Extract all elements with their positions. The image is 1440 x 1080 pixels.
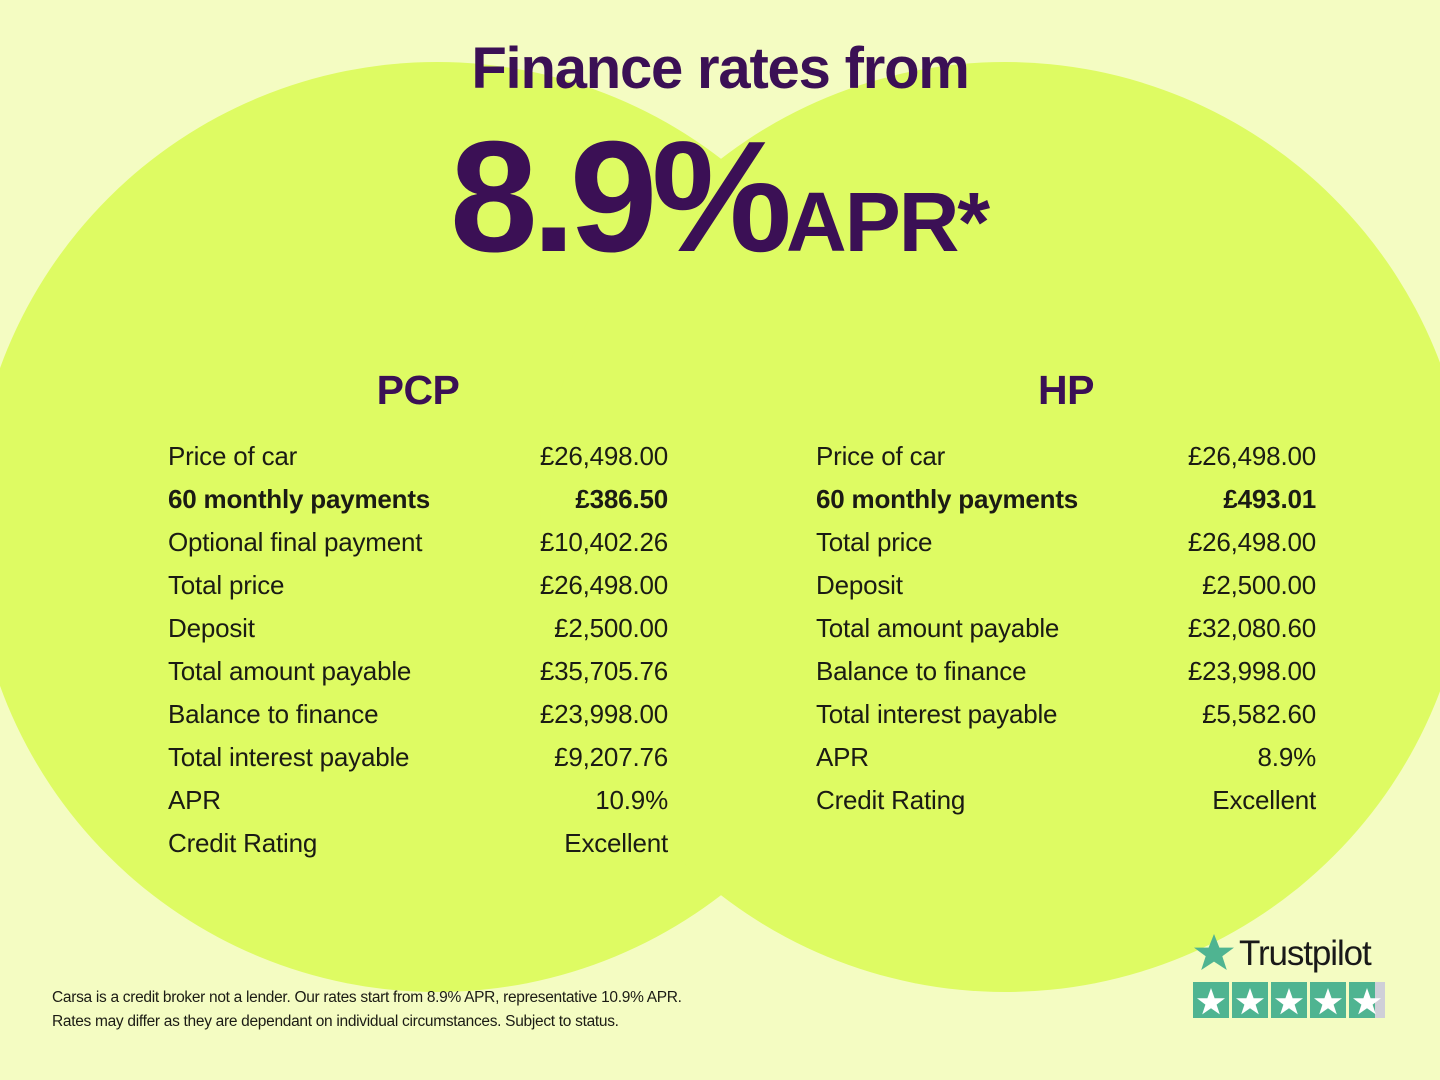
- row-label: 60 monthly payments: [168, 484, 430, 515]
- row-value: £23,998.00: [540, 699, 668, 730]
- headline-rate: 8.9%APR*: [0, 118, 1440, 276]
- row-label: APR: [168, 785, 221, 816]
- table-row: Deposit£2,500.00: [168, 613, 668, 656]
- rate-asterisk: *: [957, 175, 990, 269]
- table-row: Total price£26,498.00: [816, 527, 1316, 570]
- table-row: APR10.9%: [168, 785, 668, 828]
- table-row: 60 monthly payments£493.01: [816, 484, 1316, 527]
- table-row: Balance to finance£23,998.00: [168, 699, 668, 742]
- row-value: £10,402.26: [540, 527, 668, 558]
- table-row: Price of car£26,498.00: [816, 441, 1316, 484]
- trustpilot-star-icon: [1193, 933, 1235, 973]
- table-row: 60 monthly payments£386.50: [168, 484, 668, 527]
- table-row: Credit RatingExcellent: [168, 828, 668, 871]
- row-value: £26,498.00: [540, 570, 668, 601]
- row-label: Price of car: [816, 441, 945, 472]
- row-value: 8.9%: [1258, 742, 1316, 773]
- table-row: Total interest payable£9,207.76: [168, 742, 668, 785]
- row-label: Deposit: [816, 570, 903, 601]
- row-label: Balance to finance: [816, 656, 1026, 687]
- row-value: £23,998.00: [1188, 656, 1316, 687]
- plan-hp-rows: Price of car£26,498.0060 monthly payment…: [816, 441, 1316, 828]
- row-value: 10.9%: [595, 785, 668, 816]
- row-value: £493.01: [1223, 484, 1316, 515]
- plan-pcp-title: PCP: [168, 370, 668, 411]
- row-value: Excellent: [1212, 785, 1316, 816]
- table-row: Total interest payable£5,582.60: [816, 699, 1316, 742]
- table-row: Total amount payable£32,080.60: [816, 613, 1316, 656]
- rate-value: 8.9%: [450, 109, 786, 285]
- row-label: Optional final payment: [168, 527, 422, 558]
- row-label: APR: [816, 742, 869, 773]
- table-row: Deposit£2,500.00: [816, 570, 1316, 613]
- table-row: Balance to finance£23,998.00: [816, 656, 1316, 699]
- row-value: Excellent: [564, 828, 668, 859]
- row-label: Total price: [168, 570, 284, 601]
- row-value: £2,500.00: [1202, 570, 1316, 601]
- row-label: 60 monthly payments: [816, 484, 1078, 515]
- table-row: Total price£26,498.00: [168, 570, 668, 613]
- row-value: £386.50: [575, 484, 668, 515]
- table-row: APR8.9%: [816, 742, 1316, 785]
- row-value: £2,500.00: [554, 613, 668, 644]
- row-value: £5,582.60: [1202, 699, 1316, 730]
- row-label: Total amount payable: [168, 656, 411, 687]
- rating-star-icon: [1349, 982, 1385, 1018]
- row-value: £26,498.00: [1188, 441, 1316, 472]
- table-row: Optional final payment£10,402.26: [168, 527, 668, 570]
- disclaimer-line-2: Rates may differ as they are dependant o…: [52, 1010, 812, 1034]
- row-value: £26,498.00: [540, 441, 668, 472]
- row-label: Credit Rating: [816, 785, 965, 816]
- row-label: Total price: [816, 527, 932, 558]
- table-row: Credit RatingExcellent: [816, 785, 1316, 828]
- row-value: £35,705.76: [540, 656, 668, 687]
- trustpilot-rating-stars: [1193, 982, 1393, 1018]
- row-label: Total interest payable: [168, 742, 409, 773]
- row-label: Balance to finance: [168, 699, 378, 730]
- trustpilot-name: Trustpilot: [1239, 936, 1371, 971]
- row-label: Deposit: [168, 613, 255, 644]
- row-label: Total amount payable: [816, 613, 1059, 644]
- rating-star-icon: [1193, 982, 1229, 1018]
- rating-star-icon: [1232, 982, 1268, 1018]
- rating-star-icon: [1310, 982, 1346, 1018]
- row-label: Total interest payable: [816, 699, 1057, 730]
- row-value: £26,498.00: [1188, 527, 1316, 558]
- plan-hp: HP Price of car£26,498.0060 monthly paym…: [816, 370, 1316, 828]
- rating-star-icon: [1271, 982, 1307, 1018]
- page-title: Finance rates from: [0, 40, 1440, 98]
- row-value: £32,080.60: [1188, 613, 1316, 644]
- table-row: Price of car£26,498.00: [168, 441, 668, 484]
- trustpilot-wordmark: Trustpilot: [1193, 930, 1393, 976]
- plan-hp-title: HP: [816, 370, 1316, 411]
- plan-pcp: PCP Price of car£26,498.0060 monthly pay…: [168, 370, 668, 871]
- disclaimer: Carsa is a credit broker not a lender. O…: [52, 986, 812, 1034]
- plan-pcp-rows: Price of car£26,498.0060 monthly payment…: [168, 441, 668, 871]
- row-label: Price of car: [168, 441, 297, 472]
- table-row: Total amount payable£35,705.76: [168, 656, 668, 699]
- disclaimer-line-1: Carsa is a credit broker not a lender. O…: [52, 986, 812, 1010]
- promo-card: Finance rates from 8.9%APR* PCP Price of…: [0, 0, 1440, 1080]
- row-label: Credit Rating: [168, 828, 317, 859]
- trustpilot-badge[interactable]: Trustpilot: [1193, 930, 1393, 1018]
- row-value: £9,207.76: [554, 742, 668, 773]
- rate-unit: APR: [786, 175, 957, 269]
